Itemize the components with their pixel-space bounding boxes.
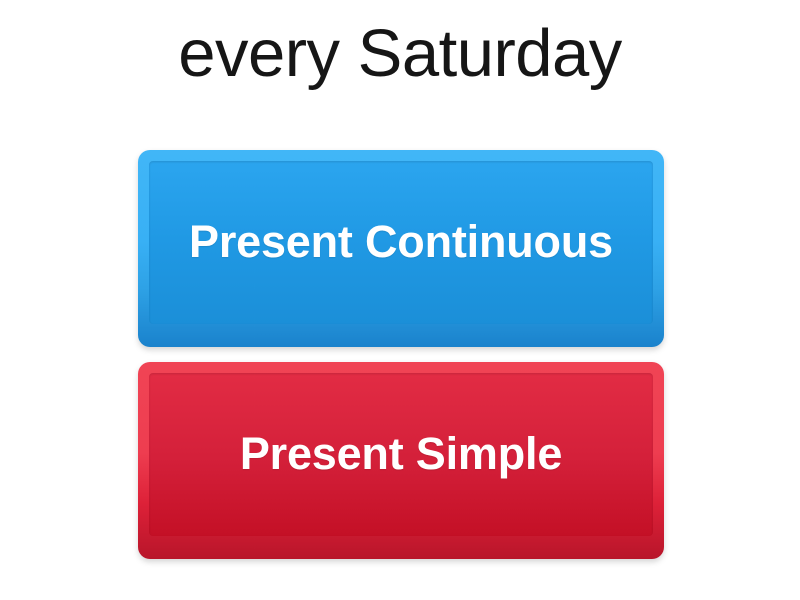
answer-option-label: Present Continuous (175, 214, 627, 271)
answer-option-present-continuous[interactable]: Present Continuous (138, 150, 664, 347)
question-prompt: every Saturday (0, 16, 800, 91)
quiz-screen: every Saturday Present Continuous Presen… (0, 0, 800, 600)
answer-option-label: Present Simple (226, 426, 576, 483)
answer-option-face: Present Simple (149, 373, 653, 536)
answer-option-present-simple[interactable]: Present Simple (138, 362, 664, 559)
answer-option-face: Present Continuous (149, 161, 653, 324)
answer-options-list: Present Continuous Present Simple (138, 150, 664, 559)
